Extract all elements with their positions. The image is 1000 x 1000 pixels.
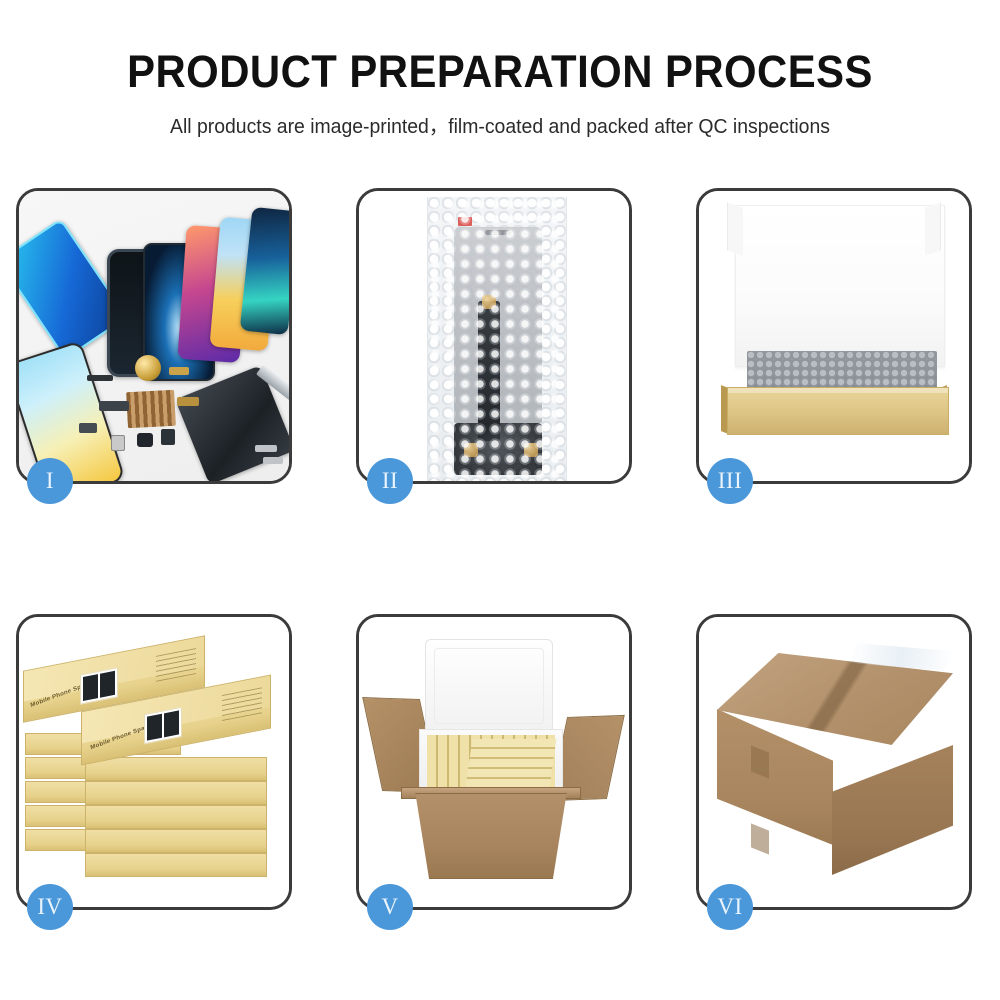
retail-boxes-in-carton [466,739,557,787]
button-part-icon [161,429,175,445]
step-card-4: Mobile Phone Spare Parts Mobile Phone Sp… [16,614,292,910]
step-3-photo [699,191,969,481]
bubble-wrap-sleeve [427,197,567,481]
screw-part-icon [263,457,283,464]
step-badge-5: V [367,884,413,930]
carton-face-right [832,745,953,875]
foam-lid-flap-right [925,202,941,255]
step-card-6: VI [696,614,972,910]
foam-lid-open [425,639,553,735]
carton-body [405,793,577,879]
step-5-photo [359,617,629,907]
step-badge-2: II [367,458,413,504]
sim-tray-part-icon [111,435,125,451]
retail-box [85,781,267,805]
gold-connector-part-icon [177,397,199,406]
process-steps-grid: I II [16,188,968,910]
step-badge-3: III [707,458,753,504]
screw-part-icon [255,445,277,452]
chip-array-icon [126,390,176,428]
step-card-2: II [356,188,632,484]
carton-tape-mark [751,823,769,854]
retail-box [85,829,267,853]
step-badge-6: VI [707,884,753,930]
screen-window-cutout [144,707,182,744]
step-2-photo [359,191,629,481]
retail-box [85,805,267,829]
retail-box [85,853,267,877]
speaker-part-icon [87,375,113,381]
camera-part-icon [99,401,129,411]
page-subtitle: All products are image-printed，film-coat… [15,110,985,139]
small-ic-part-icon [137,433,153,447]
step-6-photo [699,617,969,907]
retail-box-stack: Mobile Phone Spare Parts Mobile Phone Sp… [19,617,289,907]
retail-box [85,757,267,781]
product-preparation-infographic: PRODUCT PREPARATION PROCESS All products… [0,0,1000,1000]
step-4-photo: Mobile Phone Spare Parts Mobile Phone Sp… [19,617,289,907]
kraft-box-tray [727,387,949,435]
flex-connector-part-icon [169,367,189,375]
step-1-photo [19,191,289,481]
vibration-motor-icon [135,355,161,381]
page-title: PRODUCT PREPARATION PROCESS [35,46,965,98]
step-badge-1: I [27,458,73,504]
step-card-3: III [696,188,972,484]
grey-foam-padding [747,351,937,389]
step-card-1: I [16,188,292,484]
header: PRODUCT PREPARATION PROCESS All products… [0,0,1000,139]
step-badge-4: IV [27,884,73,930]
screen-window-cutout [80,667,118,704]
white-foam-lid [735,205,945,367]
step-card-5: V [356,614,632,910]
foam-lid-flap-left [727,202,743,255]
antenna-part-icon [79,423,97,433]
bubble-texture [428,197,566,481]
